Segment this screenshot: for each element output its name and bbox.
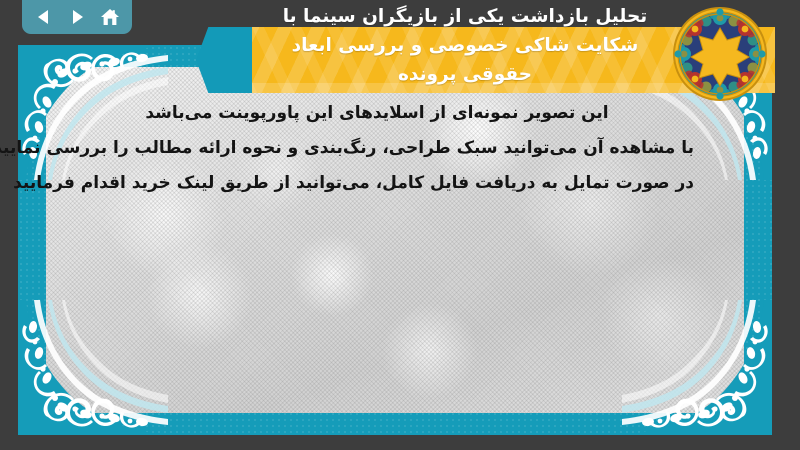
body-line-1: این تصویر نمونه‌ای از اسلایدهای این پاور…	[60, 96, 694, 131]
title-line-3: حقوقی پرونده	[250, 60, 680, 89]
home-house-icon[interactable]	[97, 5, 123, 29]
previous-triangle-icon[interactable]	[31, 5, 57, 29]
navigation-panel[interactable]	[22, 0, 132, 34]
page-title: تحلیل بازداشت یکی از بازیگران سینما با ش…	[250, 2, 680, 89]
body-line-3: در صورت تمایل به دریافت فایل کامل، می‌تو…	[60, 166, 694, 201]
slide-canvas: این تصویر نمونه‌ای از اسلایدهای این پاور…	[0, 0, 800, 450]
slide-body-text: این تصویر نمونه‌ای از اسلایدهای این پاور…	[60, 96, 694, 201]
body-line-2: با مشاهده آن می‌توانید سبک طراحی، رنگ‌بن…	[60, 131, 694, 166]
persian-medallion-icon	[668, 2, 772, 106]
next-triangle-icon[interactable]	[64, 5, 90, 29]
arabesque-corner-icon	[18, 300, 168, 435]
arabesque-corner-icon	[622, 300, 772, 435]
title-line-1: تحلیل بازداشت یکی از بازیگران سینما با	[250, 2, 680, 31]
title-line-2: شکایت شاکی خصوصی و بررسی ابعاد	[250, 31, 680, 60]
